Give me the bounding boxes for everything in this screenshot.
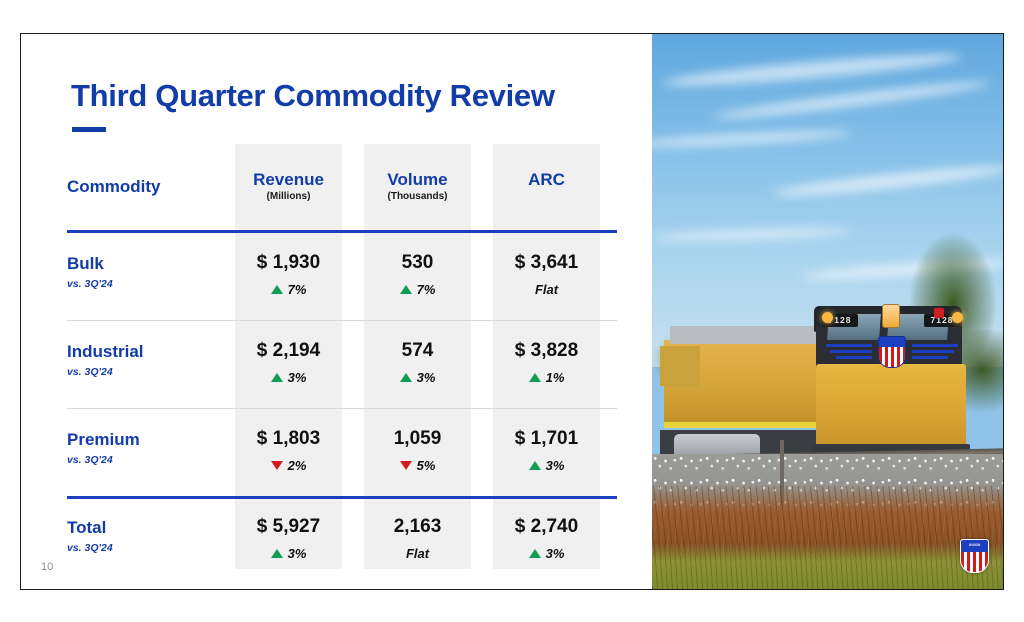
row-label-total: Total: [67, 518, 232, 538]
total-rule: [67, 496, 617, 499]
column-header-revenue: Revenue (Millions): [235, 170, 342, 204]
locomotive-hood-top: [670, 326, 820, 344]
marker-light-red: [934, 308, 944, 318]
triangle-up-icon: [529, 461, 541, 470]
row-vs-total: vs. 3Q'24: [67, 542, 232, 554]
table-row: Total vs. 3Q'24 $ 5,927 3% 2,163 Flat $ …: [67, 506, 617, 584]
winged-shield-emblem: [826, 334, 958, 368]
delta-total-revenue: 3%: [235, 546, 342, 561]
delta-industrial-revenue: 3%: [235, 370, 342, 385]
delta-premium-revenue: 2%: [235, 458, 342, 473]
triangle-up-icon: [271, 549, 283, 558]
page-number: 10: [41, 561, 53, 573]
row-vs-bulk: vs. 3Q'24: [67, 278, 232, 290]
cell-total-volume: 2,163 Flat: [364, 506, 471, 561]
row-vs-industrial: vs. 3Q'24: [67, 366, 232, 378]
table-row: Industrial vs. 3Q'24 $ 2,194 3% 574 3% $…: [67, 330, 617, 408]
row-separator: [67, 408, 617, 409]
cell-bulk-volume: 530 7%: [364, 242, 471, 297]
delta-bulk-volume: 7%: [364, 282, 471, 297]
column-header-arc: ARC: [493, 170, 600, 190]
column-header-volume: Volume (Thousands): [364, 170, 471, 204]
shield-icon: [878, 336, 906, 368]
row-label-bulk: Bulk: [67, 254, 232, 274]
delta-total-arc: 3%: [493, 546, 600, 561]
cell-industrial-volume: 574 3%: [364, 330, 471, 385]
row-label-industrial: Industrial: [67, 342, 232, 362]
cell-premium-volume: 1,059 5%: [364, 418, 471, 473]
cell-industrial-revenue: $ 2,194 3%: [235, 330, 342, 385]
triangle-up-icon: [400, 373, 412, 382]
marker-light: [822, 312, 833, 323]
delta-bulk-arc: Flat: [493, 282, 600, 297]
delta-premium-arc: 3%: [493, 458, 600, 473]
logo-top-text: UNION: [961, 543, 988, 547]
marker-light: [952, 312, 963, 323]
triangle-up-icon: [271, 373, 283, 382]
cell-premium-revenue: $ 1,803 2%: [235, 418, 342, 473]
triangle-up-icon: [400, 285, 412, 294]
slide: Third Quarter Commodity Review Commodity…: [20, 33, 1004, 590]
commodity-table: Commodity Revenue (Millions) Volume (Tho…: [67, 144, 617, 569]
cell-premium-arc: $ 1,701 3%: [493, 418, 600, 473]
cell-total-arc: $ 2,740 3%: [493, 506, 600, 561]
cell-bulk-revenue: $ 1,930 7%: [235, 242, 342, 297]
delta-industrial-arc: 1%: [493, 370, 600, 385]
delta-total-volume: Flat: [364, 546, 471, 561]
row-label-premium: Premium: [67, 430, 232, 450]
delta-premium-volume: 5%: [364, 458, 471, 473]
union-pacific-shield-logo: UNION: [960, 539, 989, 573]
headlight: [882, 304, 900, 328]
row-vs-premium: vs. 3Q'24: [67, 454, 232, 466]
cell-total-revenue: $ 5,927 3%: [235, 506, 342, 561]
locomotive-hood-panel: [660, 346, 700, 386]
cell-bulk-arc: $ 3,641 Flat: [493, 242, 600, 297]
triangle-down-icon: [400, 461, 412, 470]
cell-industrial-arc: $ 3,828 1%: [493, 330, 600, 385]
triangle-up-icon: [271, 285, 283, 294]
table-row: Bulk vs. 3Q'24 $ 1,930 7% 530 7% $ 3,641…: [67, 242, 617, 320]
column-header-commodity: Commodity: [67, 177, 227, 197]
triangle-down-icon: [271, 461, 283, 470]
header-rule: [67, 230, 617, 233]
shield-stripes: [879, 347, 905, 367]
triangle-up-icon: [529, 373, 541, 382]
logo-stripes: [961, 552, 988, 572]
delta-bulk-revenue: 7%: [235, 282, 342, 297]
title-underline-rule: [72, 127, 106, 132]
triangle-up-icon: [529, 549, 541, 558]
page-title: Third Quarter Commodity Review: [71, 78, 555, 114]
grass-texture: [652, 543, 1003, 589]
slide-content-left: Third Quarter Commodity Review Commodity…: [21, 34, 653, 589]
table-header-row: Commodity Revenue (Millions) Volume (Tho…: [67, 170, 617, 222]
row-separator: [67, 320, 617, 321]
locomotive-photo: 7128 7128 UNIO: [652, 34, 1003, 589]
table-row: Premium vs. 3Q'24 $ 1,803 2% 1,059 5% $ …: [67, 418, 617, 496]
locomotive-nose: [816, 364, 966, 450]
delta-industrial-volume: 3%: [364, 370, 471, 385]
